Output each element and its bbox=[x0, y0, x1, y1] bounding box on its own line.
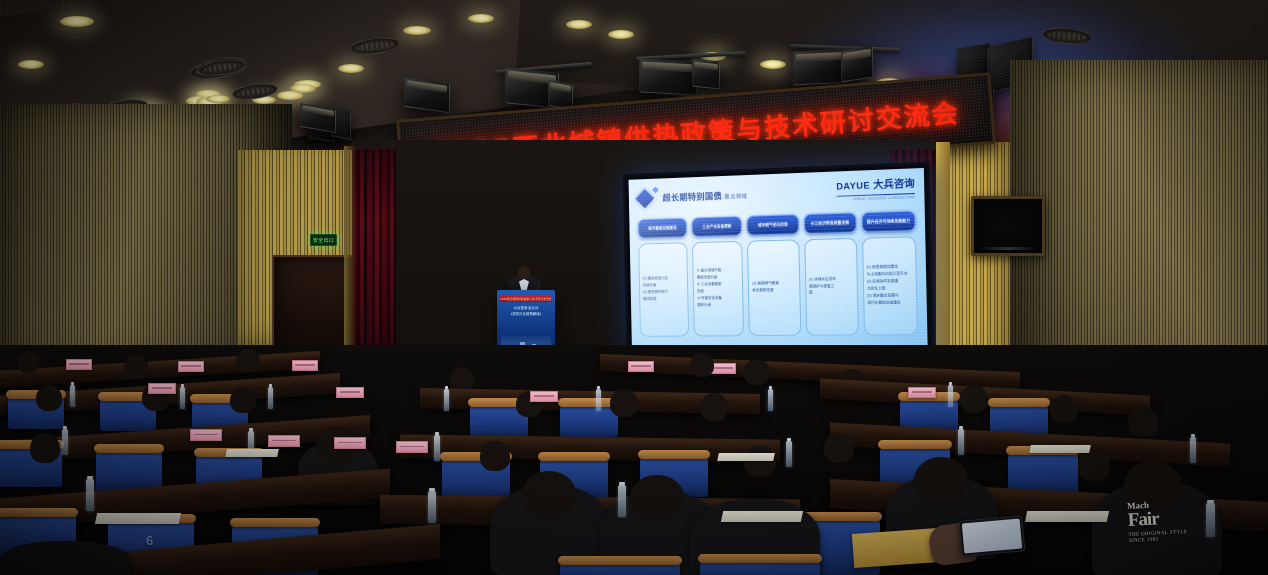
slide-pill: 提升经济可持续发展能力 bbox=[861, 211, 915, 233]
audience-head bbox=[690, 353, 714, 377]
audience-head bbox=[1078, 449, 1110, 481]
handout-paper bbox=[1025, 511, 1109, 522]
slide-card-line: ③ 环保安全设备 bbox=[697, 296, 722, 302]
logo-text-en: DAYUE bbox=[836, 180, 870, 191]
logo-text-cn: 大兵咨询 bbox=[873, 179, 915, 192]
wall-monitor-right bbox=[971, 196, 1045, 256]
water-bottle bbox=[434, 435, 440, 461]
slide-card-line: (1) 流域水生态环 bbox=[809, 277, 836, 283]
stage-light-lens bbox=[642, 62, 694, 73]
slide-card: ① 重点领域节能降碳改造升级② 工业设备更新改造③ 环保安全设备更新升级 bbox=[692, 241, 744, 337]
slide-title: 超长期特别国债-重点领域 bbox=[662, 189, 747, 204]
jacket-graphic-text: Mach Fair THE ORIGINAL STYLE SINCE 1985 bbox=[1127, 498, 1205, 548]
ceiling-downlight bbox=[18, 60, 44, 69]
ceiling-downlight bbox=[760, 60, 786, 69]
desk-row bbox=[600, 354, 1020, 389]
name-card bbox=[530, 391, 558, 402]
ceiling-downlight bbox=[60, 16, 94, 27]
slide-pill: 城市燃气老旧改造 bbox=[747, 214, 799, 236]
slide-card-line: (2) 推进城市地下 bbox=[643, 290, 668, 296]
slide-card-list: (1) 推进老旧小区改造升级(2) 推进城市地下管线改造 bbox=[643, 276, 669, 303]
seat-armrest-top bbox=[0, 508, 78, 517]
audience-head bbox=[124, 355, 148, 379]
row-number: 6 bbox=[146, 533, 153, 548]
slide-card-list: (1) 流域水生态环境保护与修复工程 bbox=[809, 277, 837, 298]
stage-light-fixture bbox=[404, 77, 450, 113]
smartphone[interactable] bbox=[959, 515, 1026, 556]
audience-seat[interactable] bbox=[700, 559, 820, 575]
slide-card: (1) 流域水生态环境保护与修复工程 bbox=[804, 238, 859, 336]
podium-banner-text: 2025西北城镇供热政策与技术研讨交流会 bbox=[500, 297, 551, 301]
audience-head bbox=[236, 349, 260, 373]
slide-card-list: (1) 新型城镇化建设与土地集约利用示范平台(2) 区域协同发展重大民生工程(3… bbox=[866, 265, 908, 308]
audience-head bbox=[960, 385, 988, 413]
audience-head bbox=[630, 475, 684, 519]
presentation-slide: 超长期特别国债-重点领域 DAYUE大兵咨询 GREAT SOLDIER CON… bbox=[629, 168, 928, 354]
slide-card: (1) 推进老旧小区改造升级(2) 推进城市地下管线改造 bbox=[638, 242, 689, 337]
slide-card-line: 改造 bbox=[697, 289, 722, 295]
slide-card-line: ① 重点领域节能 bbox=[697, 268, 722, 274]
ceiling-downlight bbox=[468, 14, 494, 23]
projection-screen: 超长期特别国债-重点领域 DAYUE大兵咨询 GREAT SOLDIER CON… bbox=[623, 162, 934, 361]
water-bottle bbox=[1206, 503, 1215, 537]
audience-head bbox=[1128, 407, 1158, 437]
jacket-subtext: THE ORIGINAL STYLE SINCE 1985 bbox=[1128, 529, 1204, 543]
name-card bbox=[292, 360, 318, 371]
water-bottle bbox=[948, 385, 953, 407]
water-bottle bbox=[786, 441, 792, 467]
handout-paper bbox=[721, 511, 803, 522]
water-bottle bbox=[268, 387, 273, 409]
name-card bbox=[66, 359, 92, 370]
slide-pill: 工业产业设备更新 bbox=[692, 216, 743, 237]
audience-head bbox=[36, 385, 62, 411]
slide-card-line: 老化更新改造 bbox=[752, 288, 779, 294]
handout-paper bbox=[225, 449, 279, 457]
handout-paper bbox=[717, 453, 775, 461]
audience-head bbox=[1050, 395, 1078, 423]
diamond-icon bbox=[636, 189, 655, 208]
phone-screen[interactable] bbox=[962, 519, 1022, 554]
auditorium-photo: 安全出口 2025西北城镇供热政策与技术研讨交流会 超长期特别国债-重点领域 D… bbox=[0, 0, 1268, 575]
seat-armrest-top bbox=[638, 450, 710, 459]
water-bottle bbox=[86, 479, 94, 511]
slide-card-line: 管线改造 bbox=[643, 296, 668, 302]
slide-card: (1) 城镇燃气管道老化更新改造 bbox=[747, 239, 801, 336]
seat-armrest-top bbox=[988, 398, 1050, 407]
water-bottle bbox=[596, 389, 601, 411]
water-bottle bbox=[428, 491, 436, 523]
podium-banner-strip: 2025西北城镇供热政策与技术研讨交流会 bbox=[500, 295, 552, 302]
ceiling-downlight bbox=[403, 26, 431, 35]
audience-head bbox=[700, 393, 728, 421]
handout-paper bbox=[1029, 445, 1091, 453]
slide-card-list: (1) 城镇燃气管道老化更新改造 bbox=[752, 281, 779, 295]
ceiling-downlight bbox=[206, 95, 230, 103]
stage-light-fixture bbox=[692, 59, 720, 90]
audience-head bbox=[450, 367, 474, 391]
slide-card-line: 与土地集约利用示范平台 bbox=[867, 272, 908, 278]
slide-card-line: (1) 推进老旧小区 bbox=[643, 276, 668, 282]
stage-light-lens bbox=[694, 61, 718, 70]
audience-head bbox=[522, 471, 576, 517]
name-card bbox=[908, 387, 936, 398]
slide-card-list: ① 重点领域节能降碳改造升级② 工业设备更新改造③ 环保安全设备更新升级 bbox=[697, 268, 723, 309]
slide-card-line: 大民生工程 bbox=[867, 286, 908, 292]
audience-seat[interactable] bbox=[560, 561, 680, 575]
audience-head bbox=[30, 433, 60, 463]
jacket-name: Fair bbox=[1127, 507, 1204, 531]
speaker-head bbox=[518, 266, 530, 279]
podium-text: 大兵咨询·赵大兵 《供热行业政策解读》 bbox=[501, 306, 551, 318]
seat-armrest-top bbox=[230, 518, 320, 527]
ceiling-downlight bbox=[566, 20, 592, 29]
stage-light-lens bbox=[302, 106, 333, 117]
slide-pill: 长江经济带高质量发展 bbox=[803, 212, 856, 234]
slide-card-line: 境保护与修复工 bbox=[809, 283, 836, 289]
audience-seat[interactable] bbox=[96, 449, 162, 491]
audience-head bbox=[824, 433, 854, 463]
podium-line-2: 《供热行业政策解读》 bbox=[501, 312, 551, 318]
audience-head bbox=[480, 441, 510, 471]
diamond-small-icon bbox=[652, 186, 659, 193]
slide-card-line: 改造升级 bbox=[643, 283, 668, 289]
slide-title-suffix: -重点领域 bbox=[722, 194, 747, 201]
water-bottle bbox=[618, 485, 626, 517]
audience-head bbox=[230, 387, 256, 413]
seat-armrest-top bbox=[558, 556, 682, 565]
exit-sign: 安全出口 bbox=[310, 234, 337, 246]
slide-title-main: 超长期特别国债 bbox=[662, 191, 722, 203]
ceiling-downlight bbox=[290, 84, 316, 93]
seat-armrest-top bbox=[878, 440, 952, 449]
presenter-logo: DAYUE大兵咨询 GREAT SOLDIER CONSULTING bbox=[836, 175, 915, 203]
name-card bbox=[148, 383, 176, 394]
seat-armrest-top bbox=[538, 452, 610, 461]
ceiling-downlight bbox=[608, 30, 634, 39]
water-bottle bbox=[180, 387, 185, 409]
yellow-notepad bbox=[852, 528, 940, 568]
audience-seat[interactable] bbox=[560, 403, 618, 437]
handout-paper bbox=[95, 513, 181, 524]
audience-person bbox=[0, 541, 130, 575]
slide-card-line: 现代化基础设施建设 bbox=[867, 300, 908, 306]
audience-head bbox=[744, 445, 776, 477]
name-card bbox=[336, 387, 364, 398]
name-card bbox=[190, 429, 222, 441]
slide-card-line: 更新升级 bbox=[697, 302, 722, 308]
audience-head bbox=[914, 457, 968, 503]
audience-head bbox=[744, 359, 770, 385]
slide-card-line: 程 bbox=[809, 290, 836, 296]
seat-armrest-top bbox=[94, 444, 164, 453]
water-bottle bbox=[444, 389, 449, 411]
water-bottle bbox=[958, 429, 964, 455]
audience-head bbox=[18, 351, 40, 373]
water-bottle bbox=[62, 429, 68, 455]
name-card bbox=[396, 441, 428, 453]
audience-head bbox=[610, 389, 638, 417]
slide-card: (1) 新型城镇化建设与土地集约利用示范平台(2) 区域协同发展重大民生工程(3… bbox=[862, 236, 918, 335]
slide-card-line: ② 工业设备更新 bbox=[697, 282, 722, 288]
slide-card-line: 降碳改造升级 bbox=[697, 275, 722, 281]
slide-card-line: (3) 城乡融合发展与 bbox=[867, 293, 908, 299]
slide-pill: 城市基础设施建设 bbox=[638, 218, 688, 239]
slide-card-line: (1) 新型城镇化建设 bbox=[866, 265, 907, 271]
stage-light-lens bbox=[550, 83, 571, 93]
audience-seating-area: 5 bbox=[0, 345, 1268, 575]
slide-card-line: (2) 区域协同发展重 bbox=[867, 279, 908, 285]
exit-sign-label: 安全出口 bbox=[313, 237, 334, 244]
stage-light-fixture bbox=[639, 58, 697, 95]
water-bottle bbox=[1190, 437, 1196, 463]
name-card bbox=[334, 437, 366, 449]
slide-card-line: (1) 城镇燃气管道 bbox=[752, 281, 779, 287]
ceiling-downlight bbox=[338, 64, 364, 73]
stage-light-lens bbox=[407, 80, 448, 93]
name-card bbox=[628, 361, 654, 372]
seat-armrest-top bbox=[698, 554, 822, 563]
stage-light-fixture bbox=[841, 45, 873, 82]
water-bottle bbox=[70, 385, 75, 407]
slide-pill-row: 城市基础设施建设 工业产业设备更新 城市燃气老旧改造 长江经济带高质量发展 提升… bbox=[638, 211, 916, 239]
slide-card-row: (1) 推进老旧小区改造升级(2) 推进城市地下管线改造 ① 重点领域节能降碳改… bbox=[638, 236, 918, 337]
stage-light-lens bbox=[843, 49, 871, 61]
water-bottle bbox=[768, 389, 773, 411]
name-card bbox=[268, 435, 300, 447]
name-card bbox=[178, 361, 204, 372]
